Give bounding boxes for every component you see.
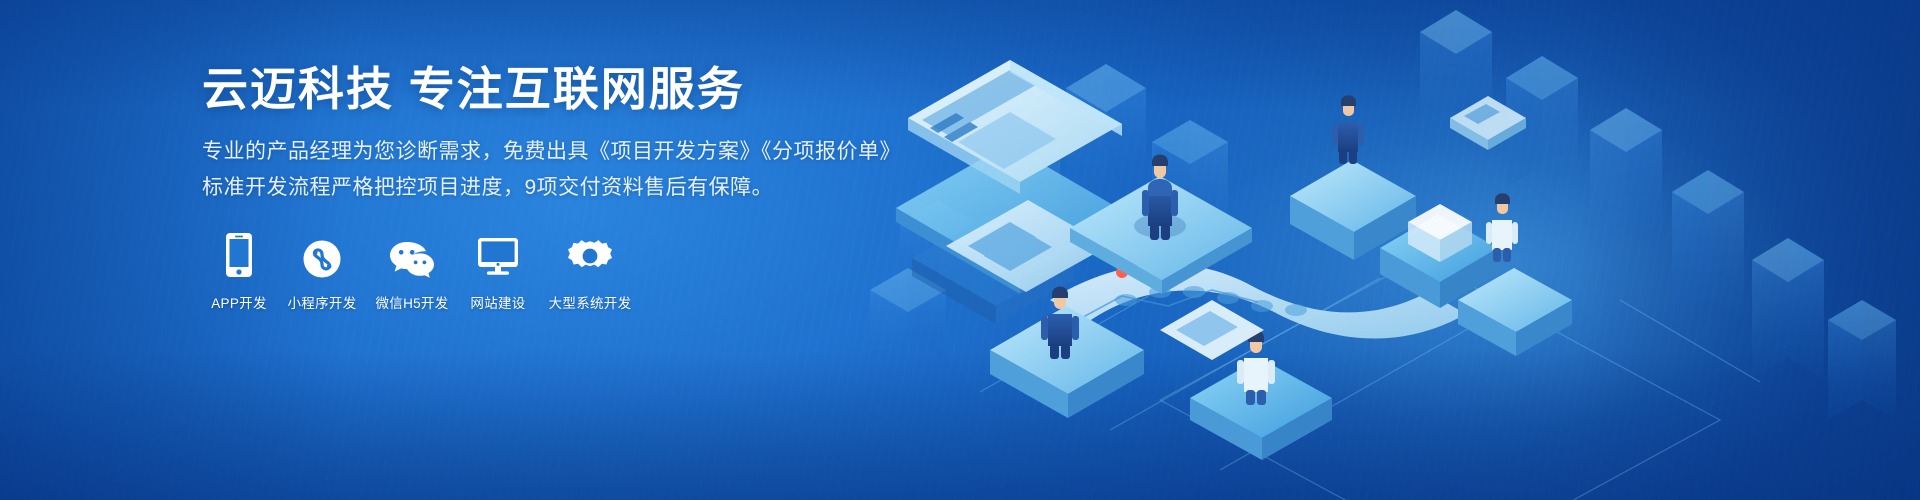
- service-item-large-system[interactable]: 大型系统开发: [538, 232, 642, 312]
- subtitle-line-1: 专业的产品经理为您诊断需求，免费出具《项目开发方案》《分项报价单》: [202, 135, 962, 169]
- service-label: 网站建设: [470, 292, 525, 312]
- mini-program-icon: [301, 232, 343, 278]
- page-title: 云迈科技 专注互联网服务: [202, 62, 962, 117]
- service-label: 大型系统开发: [549, 292, 632, 312]
- service-list: APP开发 小程序开发: [200, 232, 642, 312]
- gear-icon: [568, 232, 612, 278]
- mobile-phone-icon: [224, 232, 254, 278]
- banner-text-content: 云迈科技 专注互联网服务 专业的产品经理为您诊断需求，免费出具《项目开发方案》《…: [202, 62, 962, 205]
- service-label: 微信H5开发: [375, 292, 448, 312]
- service-item-app[interactable]: APP开发: [200, 232, 278, 312]
- hero-banner: 云迈科技 专注互联网服务 专业的产品经理为您诊断需求，免费出具《项目开发方案》《…: [0, 0, 1920, 500]
- service-item-mini-program[interactable]: 小程序开发: [278, 232, 366, 312]
- subtitle-line-2: 标准开发流程严格把控项目进度，9项交付资料售后有保障。: [202, 171, 962, 205]
- wechat-icon: [388, 232, 436, 278]
- service-item-website[interactable]: 网站建设: [458, 232, 538, 312]
- monitor-icon: [476, 232, 520, 278]
- service-label: APP开发: [211, 292, 267, 312]
- service-item-wechat-h5[interactable]: 微信H5开发: [366, 232, 458, 312]
- service-label: 小程序开发: [288, 292, 357, 312]
